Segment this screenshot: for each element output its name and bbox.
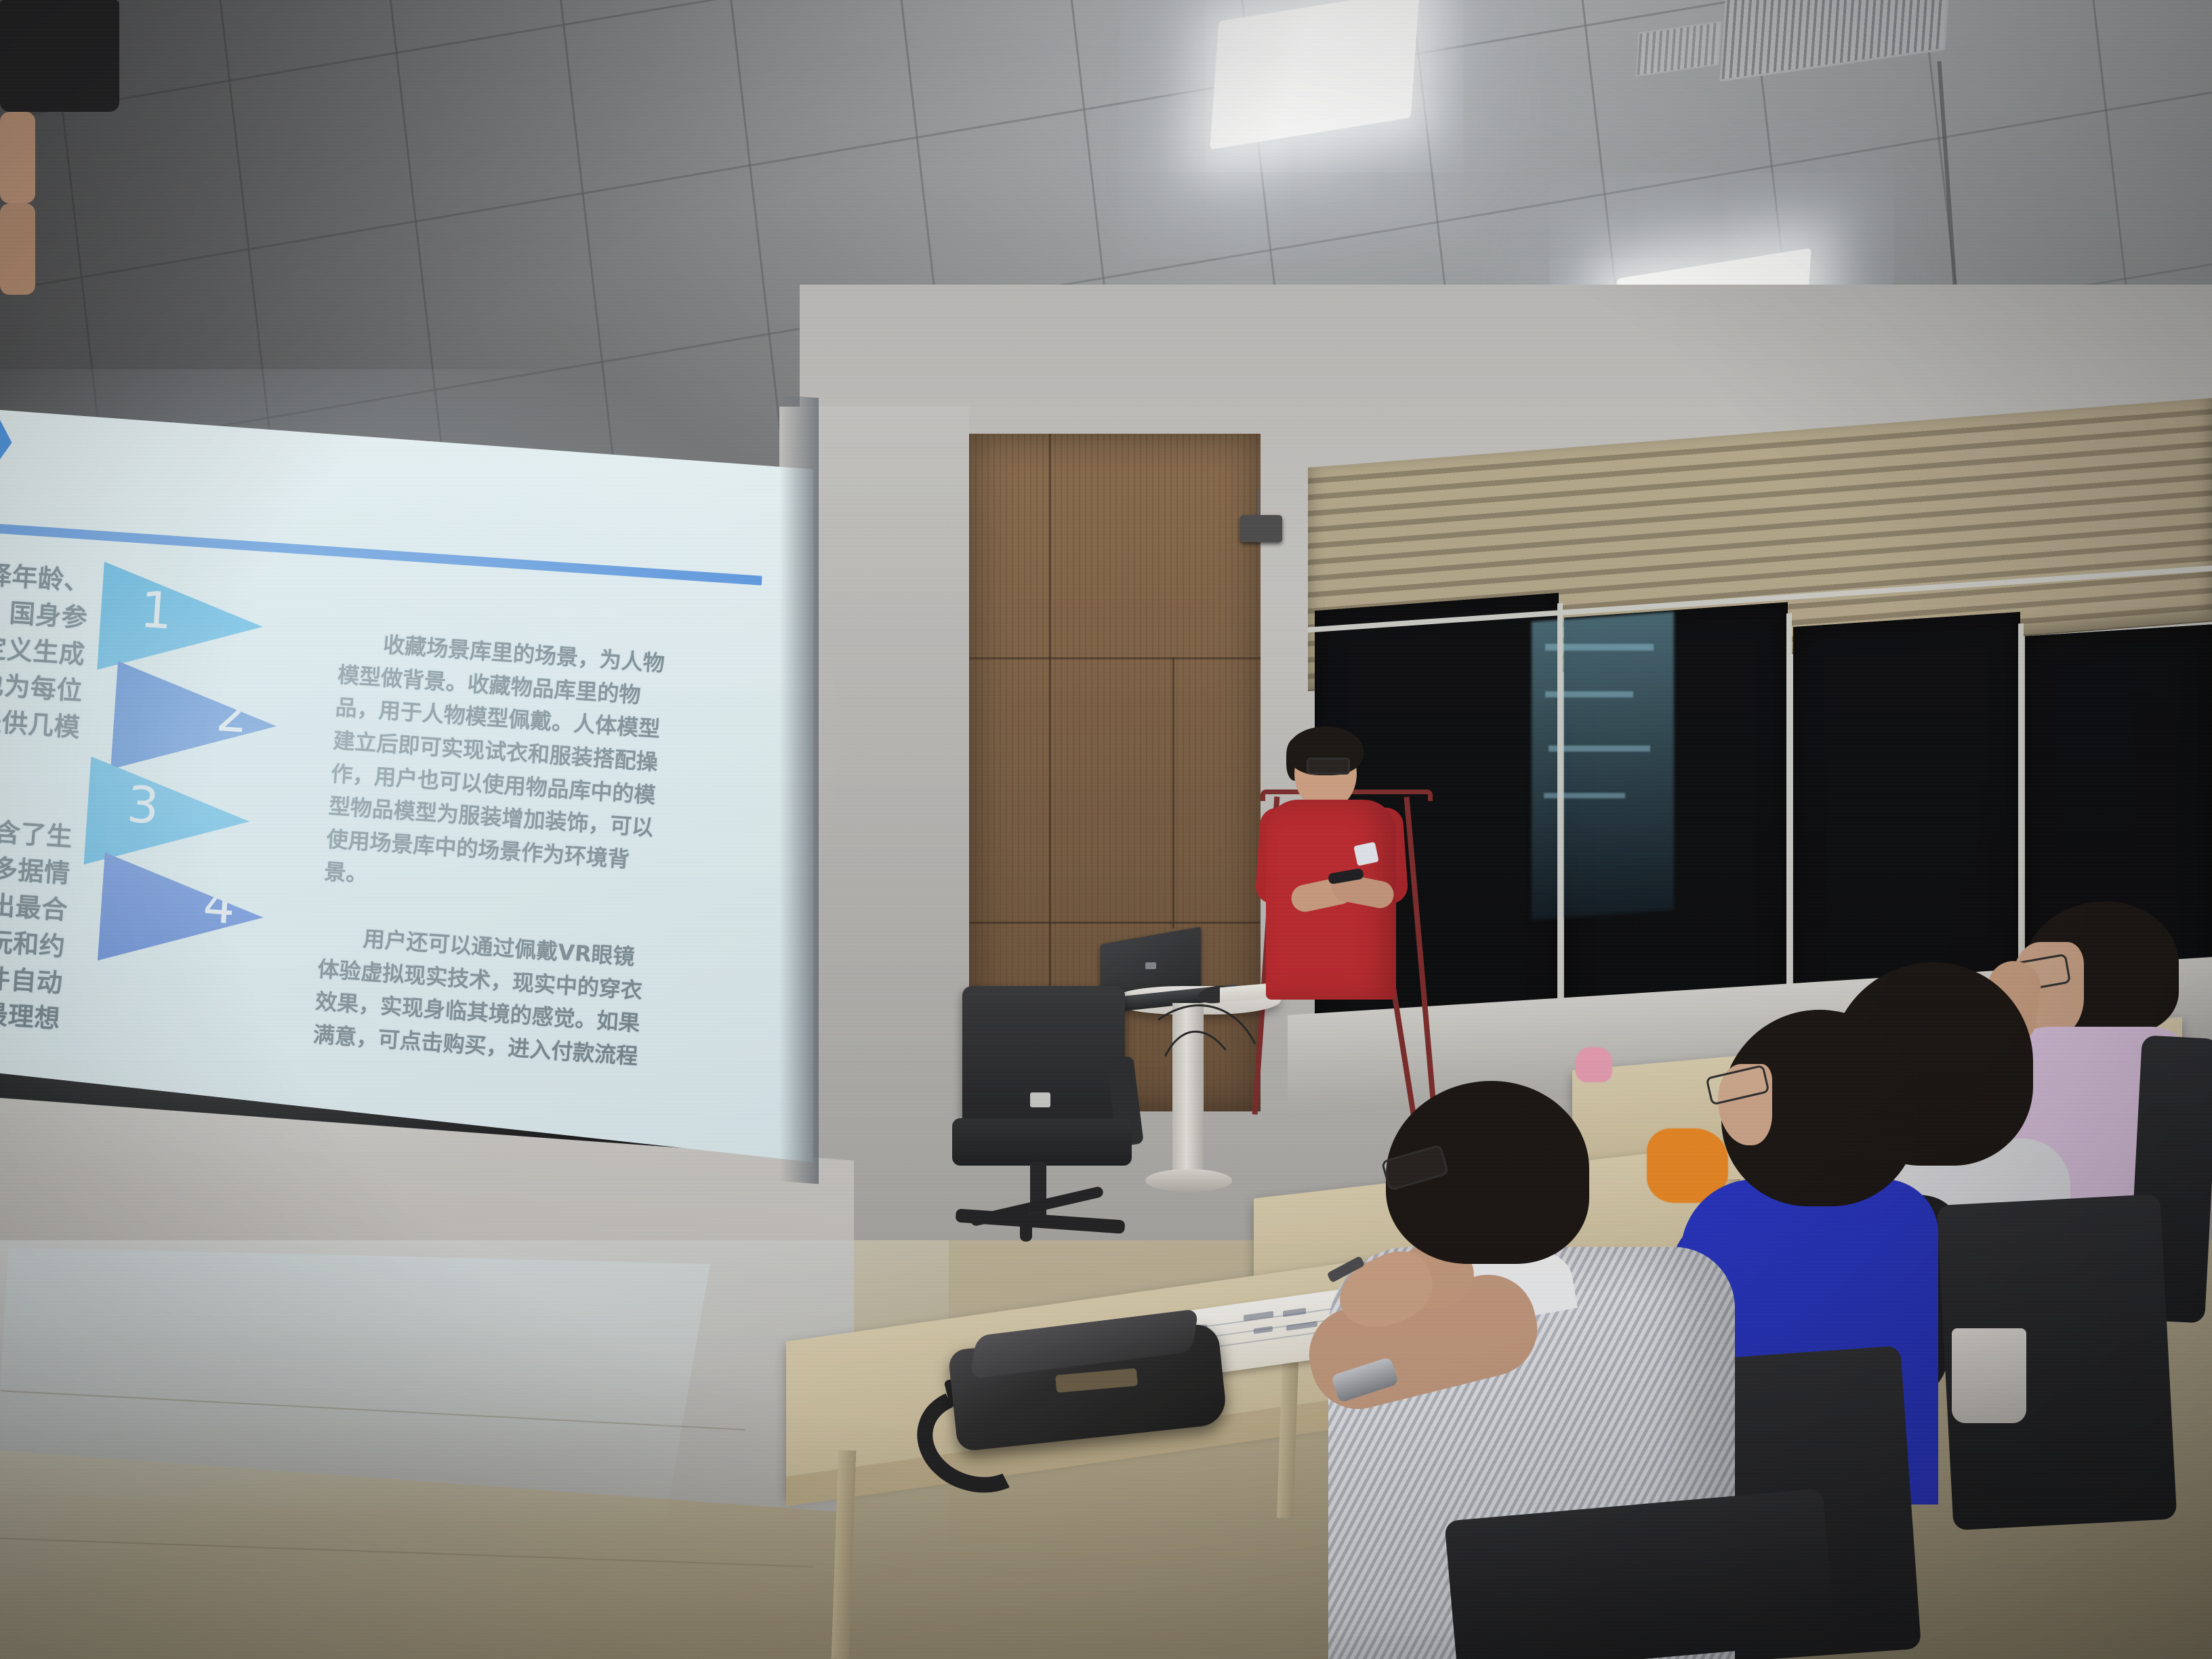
slide-hexagon-badge: 决: [0, 404, 14, 476]
presenter-shorts: [0, 0, 119, 112]
presenter-left-leg: [0, 112, 35, 203]
office-chair-seat[interactable]: [952, 1118, 1132, 1166]
window-mullion: [1557, 603, 1563, 1054]
presenter: [0, 0, 119, 295]
chevron-step-3-number: 3: [125, 775, 161, 836]
notebook-handwriting: [1254, 1326, 1273, 1334]
notebook-handwriting: [1286, 1321, 1317, 1330]
wood-panel-seam: [969, 922, 1261, 924]
presenter-right-leg: [0, 203, 35, 295]
photo-scene: 决 户选择年龄、性别、国身参数自定义生成模们也为每位用户提供几模板。 品中包含了…: [0, 0, 2212, 1659]
screen-right-edge-shadow: [779, 395, 819, 1184]
notebook-handwriting: [1283, 1308, 1306, 1317]
building-light-stripe: [1544, 793, 1625, 798]
chevron-step-2-number: 2: [214, 684, 250, 745]
slide-left-paragraph-1: 户选择年龄、性别、国身参数自定义生成模们也为每位用户提供几模板。: [0, 554, 101, 784]
paper-cup[interactable]: [1952, 1328, 2026, 1423]
slide-surface: 决 户选择年龄、性别、国身参数自定义生成模们也为每位用户提供几模板。 品中包含了…: [0, 396, 813, 1162]
pink-bag[interactable]: [1576, 1047, 1612, 1082]
slide-content: 决 户选择年龄、性别、国身参数自定义生成模们也为每位用户提供几模板。 品中包含了…: [0, 396, 811, 1218]
slide-right-paragraph-2: 用户还可以通过佩戴VR眼镜体验虚拟现实技术，现实中的穿衣效果，实现身临其境的感觉…: [312, 920, 652, 1073]
chevron-step-4-number: 4: [201, 876, 237, 936]
laptop-logo-icon: [1145, 962, 1156, 969]
office-chair-caster: [1020, 1213, 1032, 1242]
chevron-step-1-number: 1: [138, 581, 174, 641]
presenter-glasses-icon: [1307, 758, 1350, 775]
ceiling-projector: [1240, 515, 1282, 542]
slide-left-paragraph-2: 品中包含了生活中的多据情景模拟出最合适的游玩和约会。软件自动出当下最理想的服装。: [0, 809, 83, 1076]
chevron-step-2: 2: [110, 661, 280, 780]
wood-panel-seam: [969, 657, 1261, 659]
screen-floor-reflection: [0, 1247, 773, 1532]
slide-right-paragraph-1: 收藏场景库里的场景，为人物模型做背景。收藏物品库里的物品，用于人物模型佩戴。人体…: [323, 626, 672, 911]
slide-right-column: 收藏场景库里的场景，为人物模型做背景。收藏物品库里的物品，用于人物模型佩戴。人体…: [310, 626, 672, 1105]
building-light-stripe: [1549, 745, 1650, 752]
chevron-step-4: 4: [98, 853, 267, 972]
office-chair-tag: [1030, 1092, 1050, 1107]
projection-screen: 决 户选择年龄、性别、国身参数自定义生成模们也为每位用户提供几模板。 品中包含了…: [0, 396, 813, 1162]
slide-numbered-chevrons: 1 2 3 4: [79, 562, 287, 953]
projector-mount: [1257, 489, 1259, 518]
city-light-glow: [1532, 612, 1674, 920]
wood-panel-seam: [1172, 657, 1174, 928]
